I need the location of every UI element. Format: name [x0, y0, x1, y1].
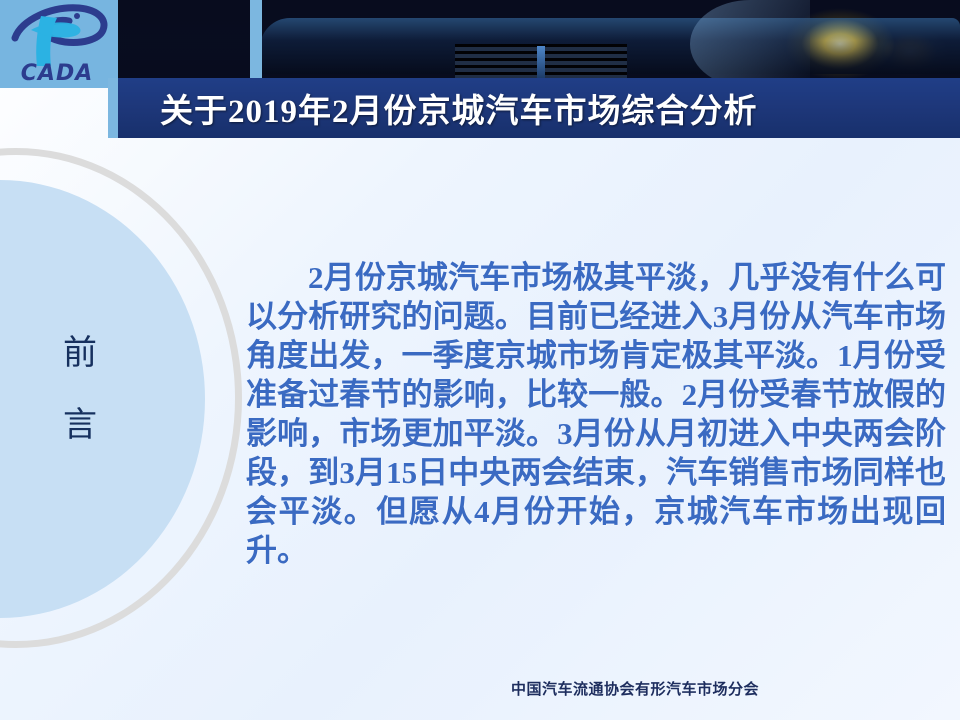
svg-text:CADA: CADA — [21, 61, 93, 84]
cada-logo-icon: CADA — [7, 4, 111, 84]
steering-wheel-shape — [690, 0, 810, 88]
cada-logo: CADA — [0, 0, 118, 88]
footer-organization: 中国汽车流通协会有形汽车市场分会 — [511, 678, 759, 699]
section-label-char: 言 — [36, 390, 126, 462]
photo-left-edge-accent — [250, 0, 262, 88]
footer: 中国汽车流通协会有形汽车市场分会 — [0, 678, 960, 699]
slide-title-bar: 关于2019年2月份京城汽车市场综合分析 — [118, 78, 960, 138]
body-paragraph: 2月份京城汽车市场极其平淡，几乎没有什么可以分析研究的问题。目前已经进入3月份从… — [246, 258, 946, 570]
header-photo-car-dashboard — [0, 0, 960, 88]
page-title: 关于2019年2月份京城汽车市场综合分析 — [160, 84, 758, 132]
section-label-char: 前 — [36, 318, 126, 390]
slide-canvas: CADA 关于2019年2月份京城汽车市场综合分析 前言 2月份京城汽车市场极其… — [0, 0, 960, 720]
section-label-preface: 前言 — [36, 318, 126, 462]
